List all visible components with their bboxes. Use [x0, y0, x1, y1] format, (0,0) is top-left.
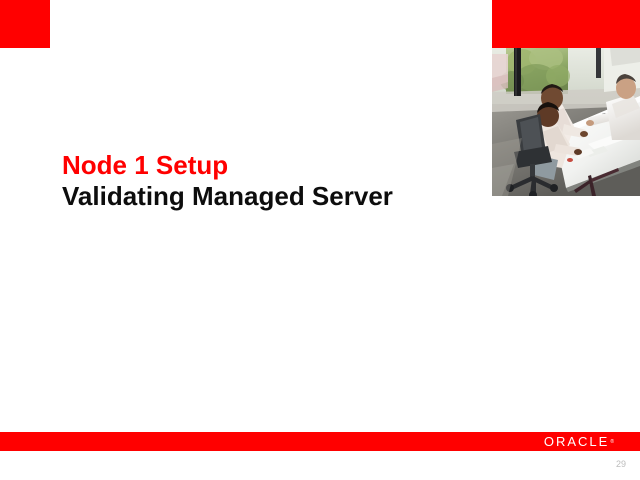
- top-left-red-accent-block: [0, 0, 50, 48]
- slide-title-primary: Node 1 Setup: [62, 150, 482, 181]
- oracle-logo-text: ORACLE: [544, 434, 609, 449]
- office-meeting-photo: [492, 48, 640, 196]
- slide-canvas: Node 1 Setup Validating Managed Server O…: [0, 0, 640, 480]
- page-number: 29: [616, 459, 626, 469]
- slide-title-secondary: Validating Managed Server: [62, 181, 482, 212]
- top-right-red-banner: [492, 0, 640, 48]
- oracle-logo: ORACLE ®: [544, 433, 614, 450]
- oracle-trademark-icon: ®: [610, 439, 614, 445]
- slide-title-block: Node 1 Setup Validating Managed Server: [62, 150, 482, 212]
